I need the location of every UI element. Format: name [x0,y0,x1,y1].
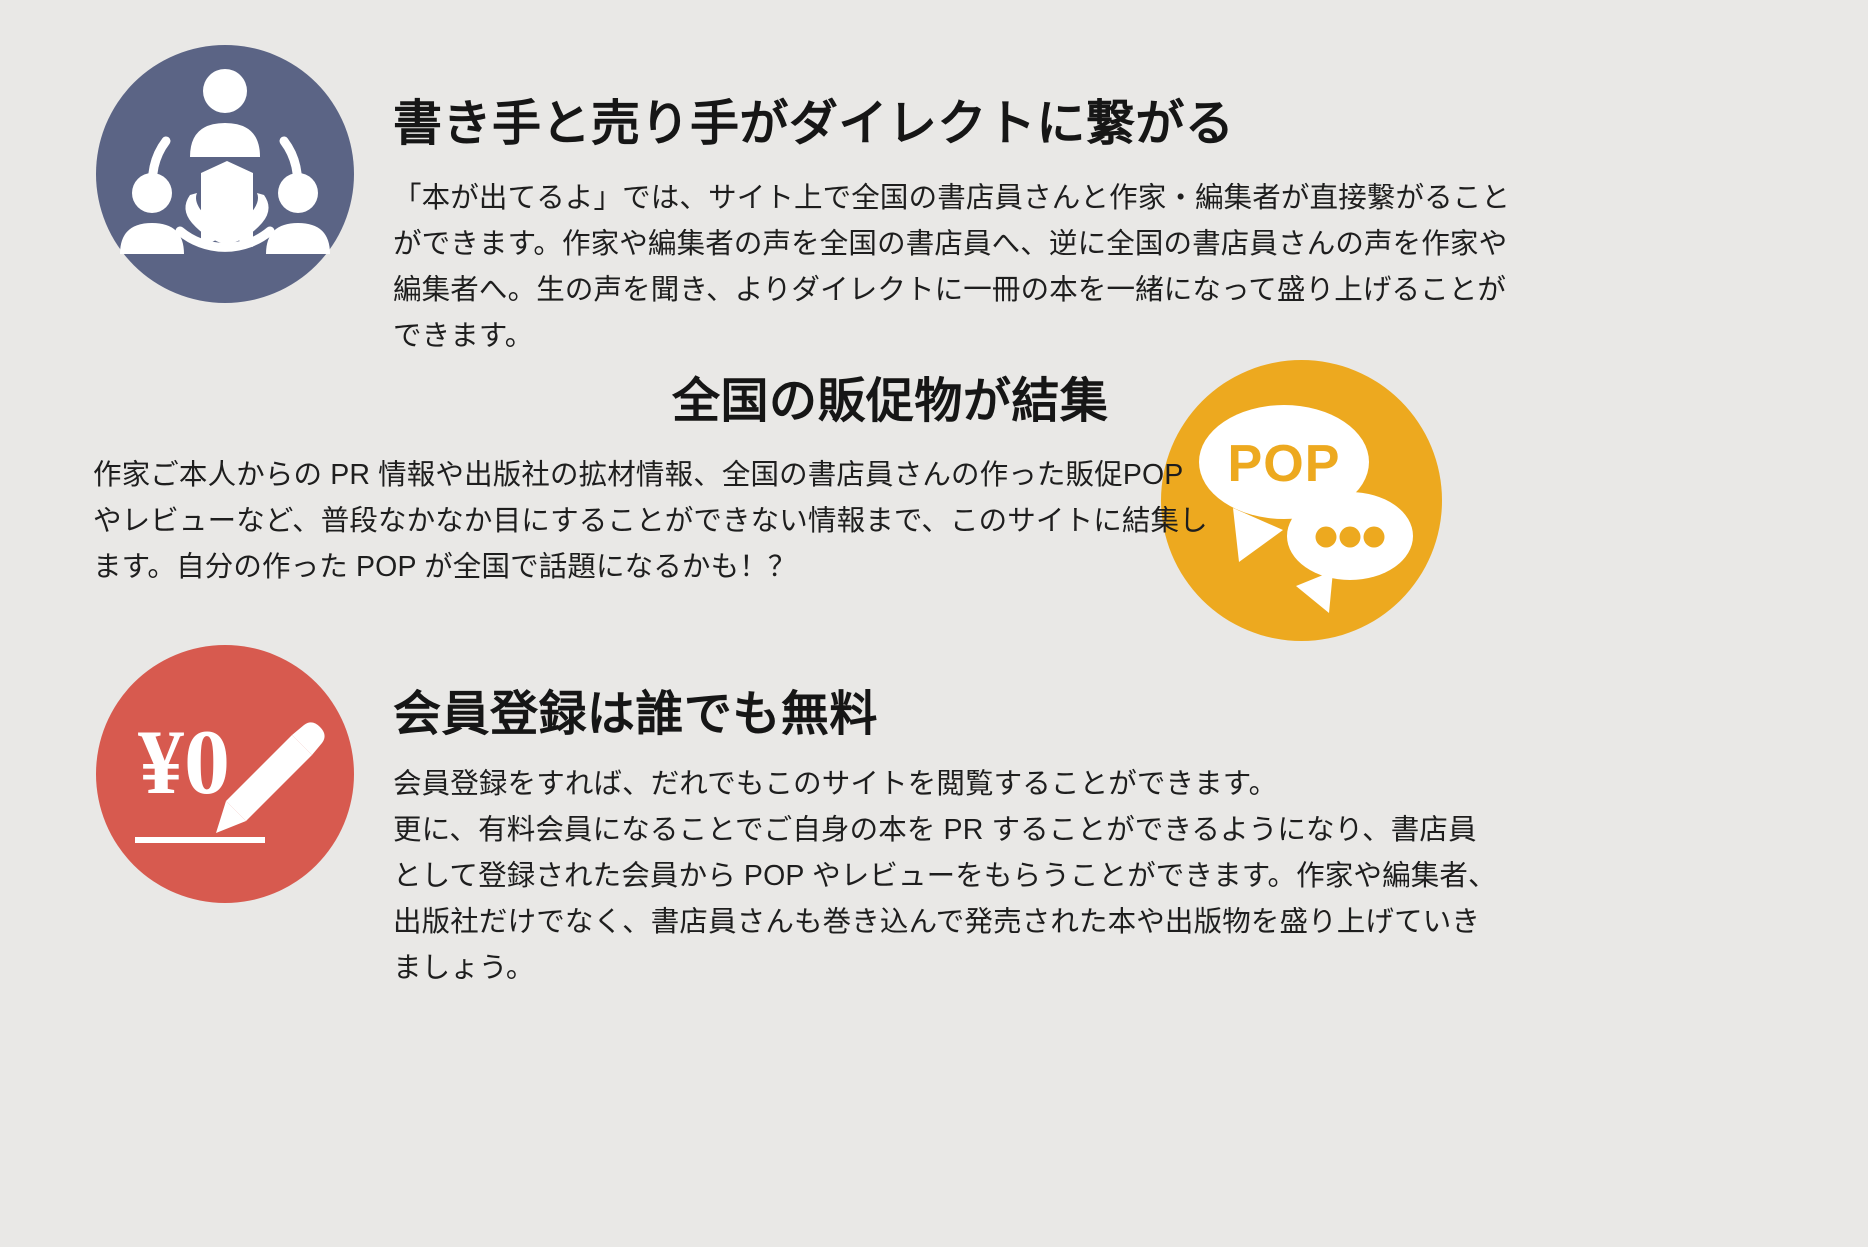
body-line: ます。自分の作った POP が全国で話題になるかも！？ [93,544,1208,590]
body-line: 「本が出てるよ」では、サイト上で全国の書店員さんと作家・編集者が直接繋がること [393,175,1510,221]
feature-free-title: 会員登録は誰でも無料 [393,688,1497,742]
feature-connect-text-block: 書き手と売り手がダイレクトに繋がる 「本が出てるよ」では、サイト上で全国の書店員… [393,97,1510,360]
people-sharing-book-glyph [96,45,354,303]
people-sharing-book-icon [96,45,354,303]
feature-pop-title: 全国の販促物が結集 [672,375,1108,429]
feature-connect-title: 書き手と売り手がダイレクトに繋がる [393,97,1510,152]
yen-zero-pen-icon: ¥0 [96,645,354,903]
body-line: 会員登録をすれば、だれでもこのサイトを閲覧することができます。 [393,761,1497,807]
feature-highlights-page: 書き手と売り手がダイレクトに繋がる 「本が出てるよ」では、サイト上で全国の書店員… [0,0,1868,1247]
body-line: ましょう。 [393,945,1497,991]
pop-bubble-label: POP [1228,435,1341,493]
feature-connect-body: 「本が出てるよ」では、サイト上で全国の書店員さんと作家・編集者が直接繋がること … [393,175,1510,360]
yen-zero-label: ¥0 [138,711,230,813]
feature-pop-body: 作家ご本人からの PR 情報や出版社の拡材情報、全国の書店員さんの作った販促PO… [93,452,1208,590]
body-line: として登録された会員から POP やレビューをもらうことができます。作家や編集者… [393,853,1497,899]
body-line: ができます。作家や編集者の声を全国の書店員へ、逆に全国の書店員さんの声を作家や [393,221,1510,267]
body-line: 出版社だけでなく、書店員さんも巻き込んで発売された本や出版物を盛り上げていき [393,899,1497,945]
body-line: できます。 [393,313,1510,359]
pen-shape [216,722,325,833]
feature-free-body: 会員登録をすれば、だれでもこのサイトを閲覧することができます。 更に、有料会員に… [393,761,1497,992]
body-line: やレビューなど、普段なかなか目にすることができない情報まで、このサイトに結集し [93,498,1208,544]
feature-free-text-block: 会員登録は誰でも無料 会員登録をすれば、だれでもこのサイトを閲覧することができま… [393,688,1497,992]
pop-bubble-secondary [1287,492,1413,613]
yen-zero-pen-glyph: ¥0 [96,645,354,903]
body-line: 更に、有料会員になることでご自身の本を PR することができるようになり、書店員 [393,807,1497,853]
body-line: 作家ご本人からの PR 情報や出版社の拡材情報、全国の書店員さんの作った販促PO… [93,452,1208,498]
body-line: 編集者へ。生の声を聞き、よりダイレクトに一冊の本を一緒になって盛り上げることが [393,267,1510,313]
